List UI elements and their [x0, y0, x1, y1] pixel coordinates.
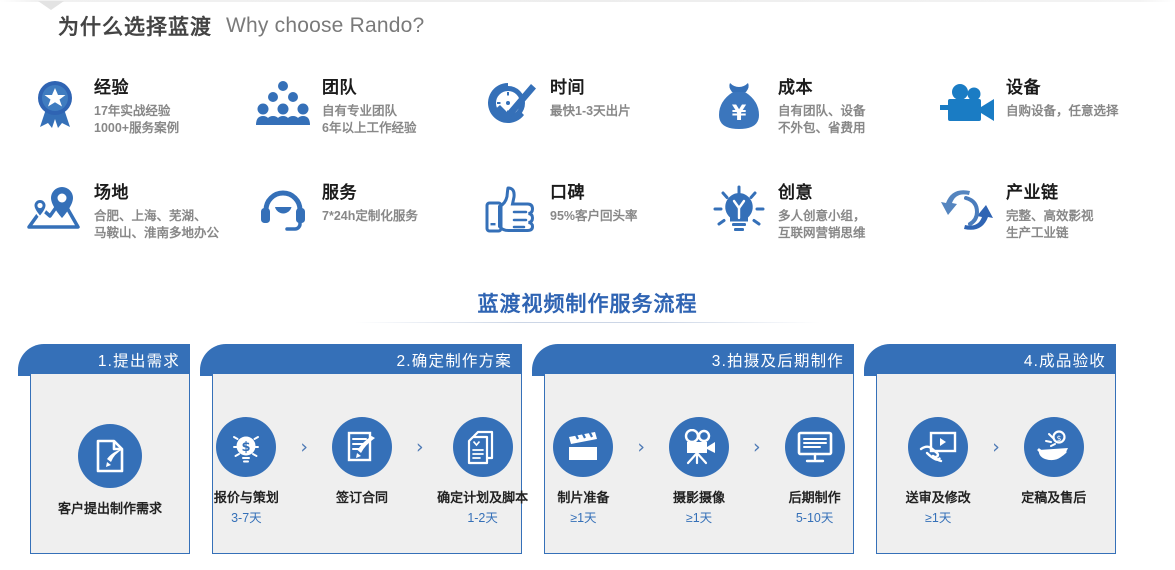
process-card-header: 2.确定制作方案 — [200, 344, 522, 376]
map-location-pin-icon — [24, 181, 86, 239]
handshake-screen-icon — [908, 417, 968, 477]
feature-item: 产业链 完整、高效影视 生产工业链 — [936, 173, 1164, 278]
feature-desc: 自有团队、设备 不外包、省费用 — [778, 103, 866, 137]
feature-item: 设备 自购设备，任意选择 — [936, 68, 1164, 173]
process-step[interactable]: $ 报价与策划 3-7天 — [198, 417, 294, 527]
svg-text:¥: ¥ — [732, 101, 747, 125]
hand-coins-icon: $ — [1024, 417, 1084, 477]
process-card-header: 3.拍摄及后期制作 — [532, 344, 854, 376]
process-step-label: 报价与策划 — [214, 489, 279, 507]
feature-item: 创意 多人创意小组， 互联网营销思维 — [708, 173, 936, 278]
feature-desc: 自有专业团队 6年以上工作经验 — [322, 103, 416, 137]
chevron-right-icon: › — [416, 417, 424, 477]
process-step-label: 定稿及售后 — [1021, 489, 1086, 507]
feature-item: ¥ 成本 自有团队、设备 不外包、省费用 — [708, 68, 936, 173]
feature-item: 口碑 95%客户回头率 — [480, 173, 708, 278]
process-step[interactable]: 送审及修改 ≥1天 — [890, 417, 986, 527]
process-step-label: 摄影摄像 — [673, 489, 725, 507]
process-card-3: 3.拍摄及后期制作 制片准备 ≥1 — [532, 344, 854, 556]
svg-text:$: $ — [242, 440, 251, 455]
feature-item: 场地 合肥、上海、芜湖、 马鞍山、淮南多地办公 — [24, 173, 252, 278]
feature-item: 服务 7*24h定制化服务 — [252, 173, 480, 278]
feature-text: 口碑 95%客户回头率 — [550, 181, 638, 225]
chevron-right-icon: › — [637, 417, 645, 477]
feature-desc: 7*24h定制化服务 — [322, 208, 418, 225]
process-card-header: 4.成品验收 — [864, 344, 1116, 376]
process-step-duration: 3-7天 — [231, 509, 262, 527]
feature-desc: 合肥、上海、芜湖、 马鞍山、淮南多地办公 — [94, 208, 219, 242]
process-step-duration: 1-2天 — [467, 509, 498, 527]
feature-title: 服务 — [322, 183, 418, 203]
process-step-label: 后期制作 — [789, 489, 841, 507]
features-grid: 经验 17年实战经验 1000+服务案例 — [24, 68, 1164, 278]
process-card-body: $ 报价与策划 3-7天 › — [212, 374, 522, 554]
monitor-edit-icon — [785, 417, 845, 477]
document-pen-icon — [78, 424, 142, 488]
feature-item: 经验 17年实战经验 1000+服务案例 — [24, 68, 252, 173]
feature-title: 时间 — [550, 78, 631, 98]
chevron-right-icon: › — [992, 417, 1000, 477]
feature-desc: 最快1-3天出片 — [550, 103, 631, 120]
money-bag-yuan-icon: ¥ — [708, 76, 770, 134]
feature-title: 创意 — [778, 183, 866, 203]
process-step[interactable]: 后期制作 5-10天 — [767, 417, 863, 527]
process-step-label: 客户提出制作需求 — [58, 500, 162, 518]
feature-text: 设备 自购设备，任意选择 — [1006, 76, 1119, 120]
video-camera-icon — [936, 76, 998, 134]
recycle-arrows-icon — [936, 181, 998, 239]
clapperboard-icon — [553, 417, 613, 477]
feature-desc: 17年实战经验 1000+服务案例 — [94, 103, 179, 137]
process-step-label: 签订合同 — [336, 489, 388, 507]
feature-title: 成本 — [778, 78, 866, 98]
process-step[interactable]: 确定计划及脚本 1-2天 — [430, 417, 536, 527]
process-step[interactable]: 制片准备 ≥1天 — [535, 417, 631, 527]
team-people-icon — [252, 76, 314, 134]
process-step[interactable]: $ 定稿及售后 — [1006, 417, 1102, 509]
process-step-duration: ≥1天 — [570, 509, 596, 527]
process-card-header: 1.提出需求 — [18, 344, 190, 376]
page-title-en: Why choose Rando? — [226, 14, 424, 38]
process-card-body: 制片准备 ≥1天 › — [544, 374, 854, 554]
process-card-1: 1.提出需求 客户提出制作需求 — [18, 344, 190, 556]
process-step-duration: ≥1天 — [686, 509, 712, 527]
process-card-header-label: 4.成品验收 — [1024, 349, 1106, 371]
feature-text: 经验 17年实战经验 1000+服务案例 — [94, 76, 179, 137]
process-card-4: 4.成品验收 送审及修改 ≥1天 — [864, 344, 1116, 556]
feature-desc: 自购设备，任意选择 — [1006, 103, 1119, 120]
feature-desc: 95%客户回头率 — [550, 208, 638, 225]
process-step-duration: 5-10天 — [796, 509, 834, 527]
feature-title: 口碑 — [550, 183, 638, 203]
feature-title: 产业链 — [1006, 183, 1094, 203]
process-step-label: 送审及修改 — [906, 489, 971, 507]
feature-title: 经验 — [94, 78, 179, 98]
process-step[interactable]: 签订合同 — [314, 417, 410, 509]
script-documents-icon — [453, 417, 513, 477]
chevron-right-icon: › — [753, 417, 761, 477]
feature-title: 团队 — [322, 78, 416, 98]
page-root: 为什么选择蓝渡 Why choose Rando? 经验 17年实战经验 100… — [0, 0, 1175, 570]
process-step[interactable]: 摄影摄像 ≥1天 — [651, 417, 747, 527]
feature-item: 团队 自有专业团队 6年以上工作经验 — [252, 68, 480, 173]
headset-icon — [252, 181, 314, 239]
feature-text: 产业链 完整、高效影视 生产工业链 — [1006, 181, 1094, 242]
process-step-label: 确定计划及脚本 — [437, 489, 528, 507]
feature-text: 创意 多人创意小组， 互联网营销思维 — [778, 181, 866, 242]
feature-text: 服务 7*24h定制化服务 — [322, 181, 418, 225]
feature-text: 成本 自有团队、设备 不外包、省费用 — [778, 76, 866, 137]
process-cards: 1.提出需求 客户提出制作需求 — [18, 344, 1168, 556]
feature-desc: 多人创意小组， 互联网营销思维 — [778, 208, 866, 242]
process-step-label: 制片准备 — [557, 489, 609, 507]
clock-check-icon — [480, 76, 542, 134]
movie-camera-icon — [669, 417, 729, 477]
thumbs-up-icon — [480, 181, 542, 239]
lightbulb-idea-icon — [708, 181, 770, 239]
bulb-dollar-icon: $ — [216, 417, 276, 477]
process-card-2: 2.确定制作方案 $ 报价 — [200, 344, 522, 556]
chevron-right-icon: › — [300, 417, 308, 477]
feature-desc: 完整、高效影视 生产工业链 — [1006, 208, 1094, 242]
svg-text:$: $ — [1056, 434, 1061, 443]
feature-title: 设备 — [1006, 78, 1119, 98]
process-section-title: 蓝渡视频制作服务流程 — [0, 288, 1175, 318]
feature-text: 团队 自有专业团队 6年以上工作经验 — [322, 76, 416, 137]
top-divider-rule — [0, 0, 1175, 2]
feature-text: 场地 合肥、上海、芜湖、 马鞍山、淮南多地办公 — [94, 181, 219, 242]
process-step-duration: ≥1天 — [925, 509, 951, 527]
process-card-body: 客户提出制作需求 — [30, 374, 190, 554]
feature-text: 时间 最快1-3天出片 — [550, 76, 631, 120]
process-card-body: 送审及修改 ≥1天 › $ — [876, 374, 1116, 554]
contract-sign-icon — [332, 417, 392, 477]
feature-item: 时间 最快1-3天出片 — [480, 68, 708, 173]
process-card-header-label: 3.拍摄及后期制作 — [712, 349, 844, 371]
process-card-header-label: 1.提出需求 — [98, 349, 180, 371]
medal-ribbon-icon — [24, 76, 86, 134]
process-title-underline — [355, 322, 820, 323]
page-title-cn: 为什么选择蓝渡 — [58, 11, 212, 41]
process-card-header-label: 2.确定制作方案 — [396, 349, 512, 371]
feature-title: 场地 — [94, 183, 219, 203]
process-step[interactable]: 客户提出制作需求 — [57, 424, 163, 520]
page-title: 为什么选择蓝渡 Why choose Rando? — [58, 6, 424, 46]
